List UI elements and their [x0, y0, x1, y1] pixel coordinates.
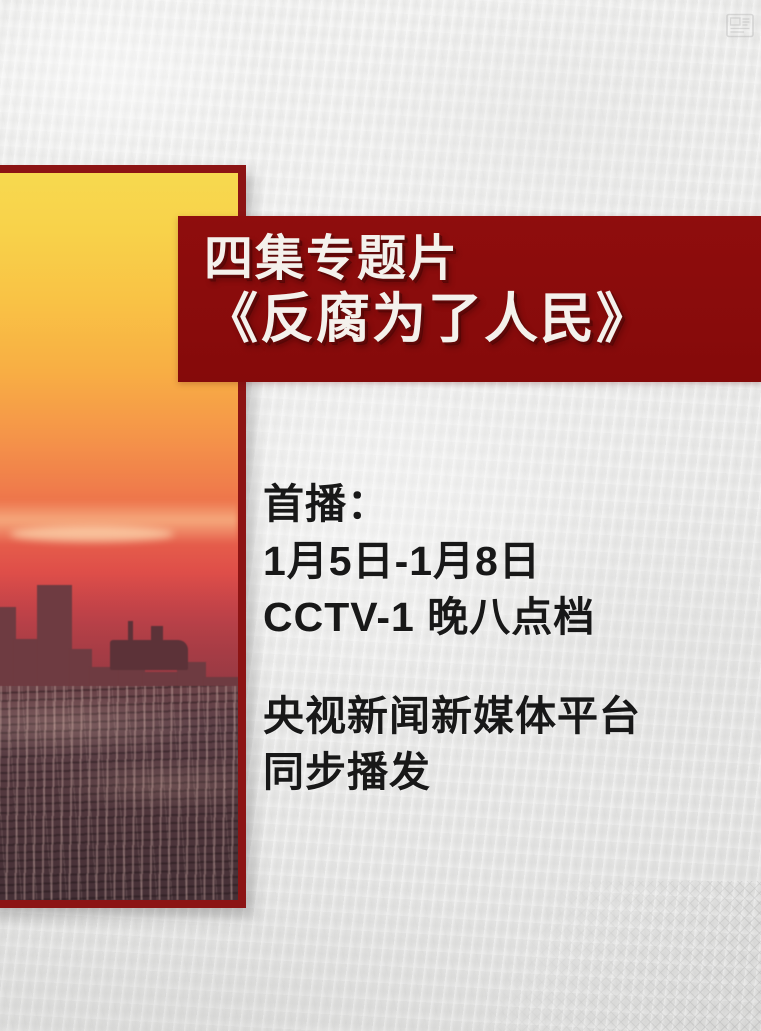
poster-canvas: 四集专题片 《反腐为了人民》 首播： 1月5日-1月8日 CCTV-1 晚八点档… — [0, 0, 761, 1031]
premiere-label: 首播： — [263, 476, 733, 533]
article-layout-icon — [726, 13, 754, 38]
photo-sea-glint — [0, 686, 238, 900]
photo-sea — [0, 686, 238, 900]
photo-cloud-streak — [10, 526, 174, 542]
title-text-group: 四集专题片 《反腐为了人民》 — [204, 232, 652, 349]
title-banner: 四集专题片 《反腐为了人民》 — [178, 216, 761, 382]
platform-name: 央视新闻新媒体平台 — [263, 688, 733, 745]
photo-cargo-ship — [110, 640, 189, 671]
info-spacer — [263, 646, 733, 688]
broadcast-dates: 1月5日-1月8日 — [263, 533, 733, 590]
channel-and-time: CCTV-1 晚八点档 — [263, 589, 733, 646]
simulcast-note: 同步播发 — [263, 744, 733, 801]
title-line-1: 四集专题片 — [204, 232, 652, 287]
broadcast-info-block: 首播： 1月5日-1月8日 CCTV-1 晚八点档 央视新闻新媒体平台 同步播发 — [263, 476, 733, 801]
title-line-2: 《反腐为了人民》 — [204, 289, 652, 349]
